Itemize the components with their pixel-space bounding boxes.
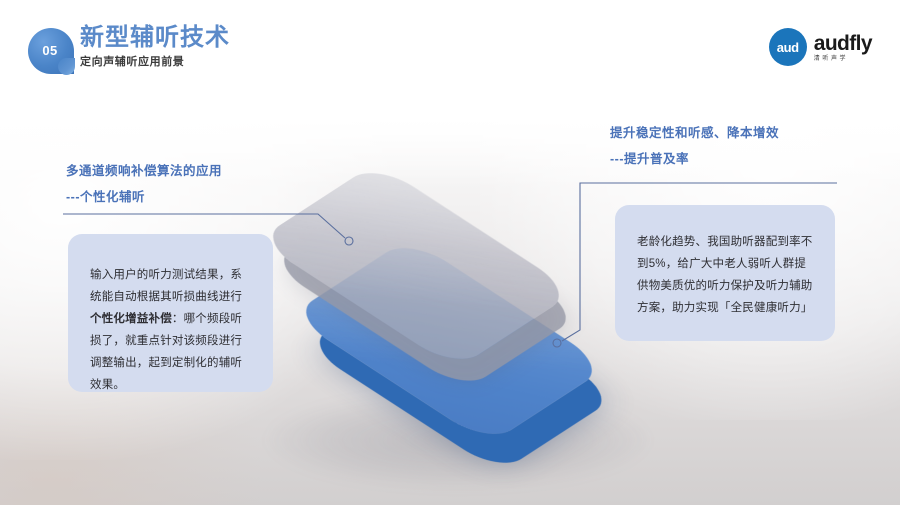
right-callout-heading-line1: 提升稳定性和听感、降本增效 xyxy=(610,120,779,146)
left-callout-heading-line1: 多通道频响补偿算法的应用 xyxy=(66,158,222,184)
left-callout-heading-line2: ---个性化辅听 xyxy=(66,184,222,210)
right-callout-body: 老龄化趋势、我国助听器配到率不到5%，给广大中老人弱听人群提供物美质优的听力保护… xyxy=(637,231,813,319)
slide-root: 05 新型辅听技术 定向声辅听应用前景 aud audfly 清听声学 多通道频… xyxy=(0,0,900,505)
logo-mark-text: aud xyxy=(777,41,799,54)
logo-circle-icon: aud xyxy=(769,28,807,66)
slide-header: 05 新型辅听技术 定向声辅听应用前景 aud audfly 清听声学 xyxy=(0,0,900,95)
left-callout-box: 输入用户的听力测试结果，系统能自动根据其听损曲线进行个性化增益补偿：哪个频段听损… xyxy=(68,234,273,392)
logo-wordmark-group: audfly 清听声学 xyxy=(814,33,872,62)
right-callout-heading-line2: ---提升普及率 xyxy=(610,146,779,172)
page-title: 新型辅听技术 xyxy=(80,26,230,50)
left-callout-heading: 多通道频响补偿算法的应用 ---个性化辅听 xyxy=(66,158,222,210)
right-callout-box: 老龄化趋势、我国助听器配到率不到5%，给广大中老人弱听人群提供物美质优的听力保护… xyxy=(615,205,835,341)
left-callout-body: 输入用户的听力测试结果，系统能自动根据其听损曲线进行个性化增益补偿：哪个频段听损… xyxy=(90,264,251,396)
logo-wordmark: audfly xyxy=(814,33,872,54)
left-callout-body-emphasis: 个性化增益补偿 xyxy=(90,313,172,325)
section-number-badge: 05 xyxy=(28,28,74,74)
page-subtitle: 定向声辅听应用前景 xyxy=(80,57,184,68)
logo-wordmark-cn: 清听声学 xyxy=(814,56,848,62)
left-callout-body-part1: 输入用户的听力测试结果，系统能自动根据其听损曲线进行 xyxy=(90,269,242,303)
badge-number-label: 05 xyxy=(28,28,74,74)
right-callout-heading: 提升稳定性和听感、降本增效 ---提升普及率 xyxy=(610,120,779,172)
brand-logo: aud audfly 清听声学 xyxy=(769,28,872,66)
